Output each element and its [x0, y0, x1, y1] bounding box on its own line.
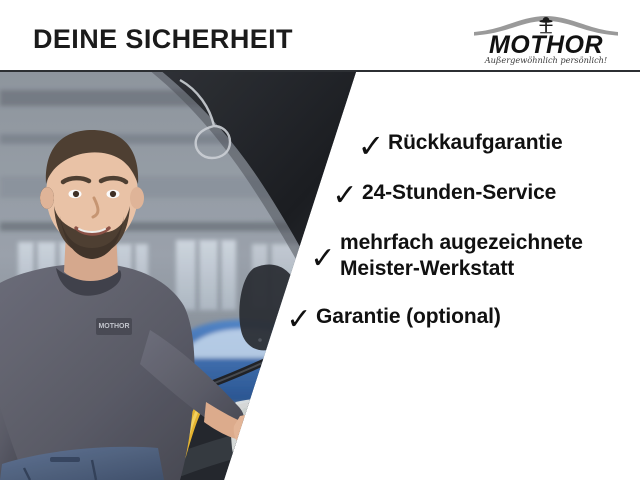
benefit-item-garantie-optional: ✓ Garantie (optional): [282, 304, 640, 334]
header-divider: [0, 70, 640, 72]
benefit-label: mehrfach augezeichnete Meister-Werkstatt: [340, 230, 640, 282]
check-icon: ✓: [306, 244, 340, 274]
banner-header: DEINE SICHERHEIT MOTHOR Außergewö: [0, 0, 640, 72]
check-icon: ✓: [354, 131, 388, 161]
benefit-item-meister-werkstatt: ✓ mehrfach augezeichnete Meister-Werksta…: [306, 230, 640, 282]
promo-banner: DEINE SICHERHEIT MOTHOR Außergewö: [0, 0, 640, 480]
check-icon: ✓: [328, 181, 362, 211]
page-title: DEINE SICHERHEIT: [33, 24, 293, 55]
benefit-item-rueckkaufgarantie: ✓ Rückkaufgarantie: [354, 130, 640, 160]
benefits-list: ✓ Rückkaufgarantie ✓ 24-Stunden-Service …: [282, 130, 640, 334]
benefit-item-24-stunden-service: ✓ 24-Stunden-Service: [328, 180, 640, 210]
check-icon: ✓: [282, 305, 316, 335]
benefit-label: Rückkaufgarantie: [388, 130, 640, 156]
benefit-label: 24-Stunden-Service: [362, 180, 640, 206]
logo-tagline: Außergewöhnlich persönlich!: [484, 55, 607, 65]
mothor-logo: MOTHOR Außergewöhnlich persönlich!: [470, 6, 622, 66]
benefit-label: Garantie (optional): [316, 304, 640, 330]
